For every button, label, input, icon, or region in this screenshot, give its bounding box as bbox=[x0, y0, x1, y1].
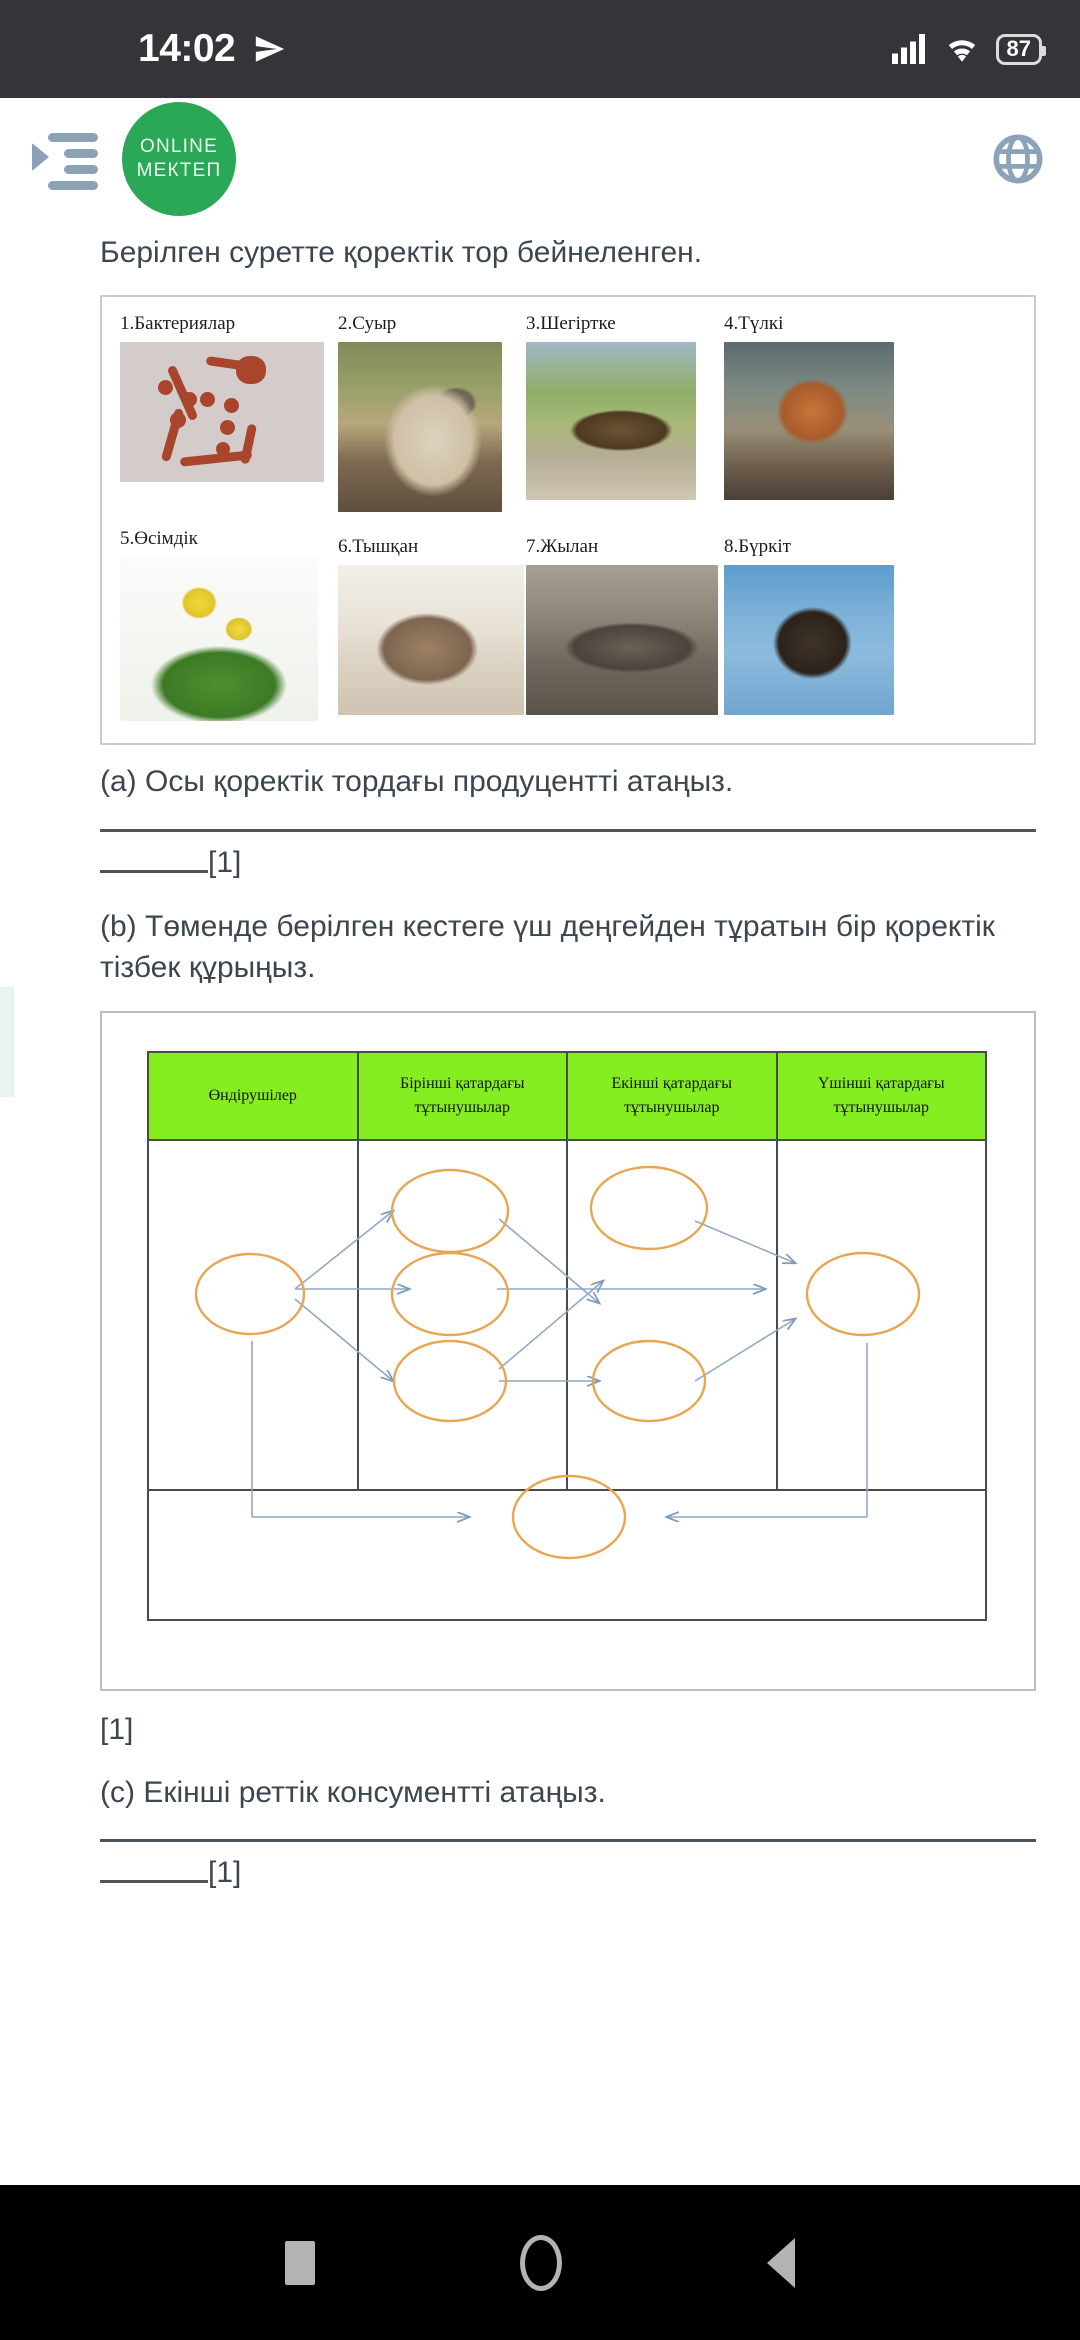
figure-label: 5.Өсімдік bbox=[120, 528, 338, 550]
app-header: ONLINE МЕКТЕП bbox=[0, 98, 1080, 220]
question-part-a: (a) Осы қоректік тордағы продуцентті ата… bbox=[100, 761, 1036, 802]
figure-row-2: 5.Өсімдік 6.Тышқан 7.Жылан 8.Бүркіт bbox=[120, 528, 1016, 721]
column-header-secondary-consumers: Екінші қатардағы тұтынушылар bbox=[568, 1053, 778, 1139]
figure-cell-fox: 4.Түлкі bbox=[724, 313, 894, 512]
figure-label: 4.Түлкі bbox=[724, 313, 894, 335]
table-decomposer-row[interactable] bbox=[149, 1491, 985, 1619]
column-header-tertiary-consumers: Үшінші қатардағы тұтынушылар bbox=[778, 1053, 986, 1139]
snake-photo bbox=[526, 565, 718, 715]
table-cell-secondary[interactable] bbox=[568, 1141, 778, 1489]
table-header-row: Өндірушілер Бірінші қатардағы тұтынушыла… bbox=[149, 1053, 985, 1141]
hamburger-menu-icon[interactable] bbox=[32, 131, 98, 187]
answer-tail-c: [1] bbox=[100, 1856, 1036, 1890]
figure-label: 7.Жылан bbox=[526, 536, 724, 558]
mouse-photo bbox=[338, 565, 524, 715]
wifi-icon bbox=[944, 34, 980, 64]
table-cell-tertiary[interactable] bbox=[778, 1141, 986, 1489]
figure-cell-marmot: 2.Суыр bbox=[338, 313, 526, 512]
question-part-c: (c) Екінші реттік консументті атаңыз. bbox=[100, 1772, 1036, 1813]
send-icon bbox=[253, 32, 287, 66]
answer-tail-a: [1] bbox=[100, 846, 1036, 880]
figure-label: 2.Суыр bbox=[338, 313, 526, 335]
figure-cell-plant: 5.Өсімдік bbox=[120, 528, 338, 721]
circle-home-icon[interactable] bbox=[520, 2235, 562, 2291]
answer-line-c[interactable] bbox=[100, 1839, 1036, 1842]
table-body-row bbox=[149, 1141, 985, 1491]
question-content: Берілген суретте қоректік тор бейнеленге… bbox=[0, 232, 1080, 1890]
table-cell-producers[interactable] bbox=[149, 1141, 359, 1489]
online-mektep-logo[interactable]: ONLINE МЕКТЕП bbox=[122, 102, 236, 216]
figure-label: 6.Тышқан bbox=[338, 536, 526, 558]
question-intro: Берілген суретте қоректік тор бейнеленге… bbox=[100, 232, 1036, 273]
status-bar-right: 87 bbox=[892, 34, 1042, 65]
exam-page: Берілген суретте қоректік тор бейнеленге… bbox=[0, 232, 1080, 1890]
square-recents-icon[interactable] bbox=[285, 2241, 315, 2285]
bacteria-photo bbox=[120, 342, 324, 482]
android-navigation-bar bbox=[0, 2185, 1080, 2340]
figure-label: 3.Шегіртке bbox=[526, 313, 724, 335]
figure-label: 8.Бүркіт bbox=[724, 536, 894, 558]
figure-label: 1.Бактериялар bbox=[120, 313, 338, 335]
status-bar: 14:02 87 bbox=[0, 0, 1080, 98]
table-cell-primary[interactable] bbox=[359, 1141, 569, 1489]
figure-cell-eagle: 8.Бүркіт bbox=[724, 528, 894, 721]
food-web-figure: 1.Бактериялар bbox=[100, 295, 1036, 745]
column-header-primary-consumers: Бірінші қатардағы тұтынушылар bbox=[359, 1053, 569, 1139]
phone-screen: 14:02 87 ONLINE bbox=[0, 0, 1080, 2340]
figure-cell-snake: 7.Жылан bbox=[526, 528, 724, 721]
diagram-inner: Өндірушілер Бірінші қатардағы тұтынушыла… bbox=[147, 1051, 987, 1621]
logo-line-2: МЕКТЕП bbox=[137, 160, 222, 182]
eagle-photo bbox=[724, 565, 894, 715]
answer-line-a[interactable] bbox=[100, 829, 1036, 832]
cellular-signal-icon bbox=[892, 34, 928, 64]
marks-b: [1] bbox=[100, 1709, 1036, 1750]
logo-line-1: ONLINE bbox=[140, 136, 218, 158]
food-chain-answer-diagram[interactable]: Өндірушілер Бірінші қатардағы тұтынушыла… bbox=[100, 1011, 1036, 1691]
grasshopper-photo bbox=[526, 342, 696, 500]
marks-a: [1] bbox=[208, 846, 241, 880]
status-clock: 14:02 bbox=[138, 27, 235, 71]
plant-photo bbox=[120, 557, 318, 721]
fox-photo bbox=[724, 342, 894, 500]
question-part-b: (b) Төменде берілген кестеге үш деңгейде… bbox=[100, 906, 1036, 989]
figure-cell-grasshopper: 3.Шегіртке bbox=[526, 313, 724, 512]
figure-cell-mouse: 6.Тышқан bbox=[338, 528, 526, 721]
answer-dash-c[interactable] bbox=[100, 1880, 208, 1883]
figure-row-1: 1.Бактериялар bbox=[120, 313, 1016, 512]
globe-icon[interactable] bbox=[992, 133, 1044, 185]
status-bar-left: 14:02 bbox=[0, 27, 287, 71]
triangle-back-icon[interactable] bbox=[767, 2238, 795, 2288]
figure-cell-bacteria: 1.Бактериялар bbox=[120, 313, 338, 512]
marks-c: [1] bbox=[208, 1856, 241, 1890]
answer-dash-a[interactable] bbox=[100, 870, 208, 873]
column-header-producers: Өндірушілер bbox=[149, 1053, 359, 1139]
food-chain-table: Өндірушілер Бірінші қатардағы тұтынушыла… bbox=[147, 1051, 987, 1621]
sidebar-edge-stub bbox=[0, 987, 14, 1097]
marmot-photo bbox=[338, 342, 502, 512]
battery-indicator: 87 bbox=[996, 34, 1042, 65]
